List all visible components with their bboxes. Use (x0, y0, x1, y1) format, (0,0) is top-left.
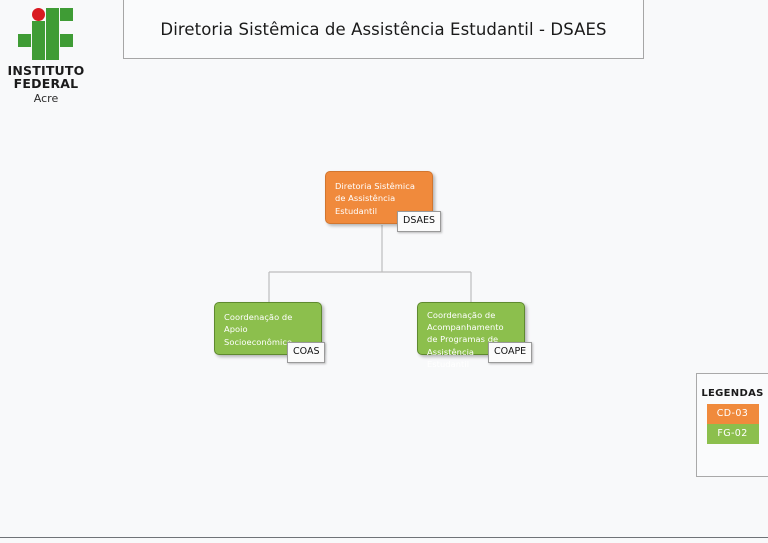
legend-item-fg-02: FG-02 (707, 424, 759, 444)
institutional-logo: INSTITUTO FEDERAL Acre (0, 4, 92, 106)
logo-text-campus: Acre (0, 91, 92, 106)
legend-title: LEGENDAS (697, 388, 768, 399)
legend-panel: LEGENDAS CD-03 FG-02 (696, 373, 768, 477)
org-node-coas[interactable]: Coordenação de Apoio Socioeconômico COAS (214, 302, 322, 355)
org-node-dsaes[interactable]: Diretoria Sistêmica de Assistência Estud… (325, 171, 433, 224)
ifac-grid-logo-icon (18, 8, 74, 60)
logo-text-federal: FEDERAL (0, 77, 92, 90)
org-node-badge: COAPE (488, 342, 532, 363)
page-title: Diretoria Sistêmica de Assistência Estud… (160, 20, 606, 39)
org-node-badge: DSAES (397, 211, 441, 232)
org-chart-connectors (0, 0, 768, 543)
org-chart: Diretoria Sistêmica de Assistência Estud… (0, 0, 768, 543)
footer-divider (0, 537, 768, 538)
org-node-coape[interactable]: Coordenação de Acompanhamento de Program… (417, 302, 525, 355)
org-node-badge: COAS (287, 342, 325, 363)
page-title-box: Diretoria Sistêmica de Assistência Estud… (123, 0, 644, 59)
legend-item-cd-03: CD-03 (707, 404, 759, 424)
